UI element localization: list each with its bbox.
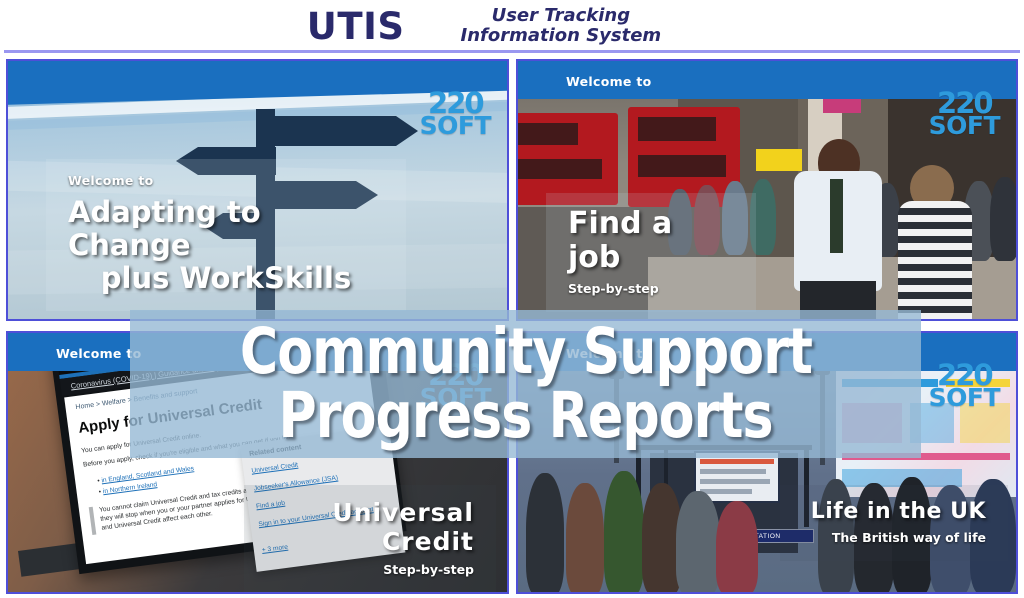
logo-bottom-text: SOFT: [929, 387, 1000, 408]
tile-title-line1: Adapting to Change: [68, 195, 261, 262]
app-subtitle: User Tracking Information System: [461, 6, 662, 46]
220soft-logo-icon: 220 SOFT: [420, 91, 491, 136]
pedestrian-icon: [566, 483, 604, 592]
tile-caption: Find a job Step-by-step: [546, 193, 756, 312]
tile-caption: Life in the UK The British way of life: [780, 485, 1008, 561]
220soft-logo-icon: 220 SOFT: [929, 91, 1000, 136]
tile-kicker: Welcome to: [68, 173, 384, 188]
double-decker-bus-icon: [518, 113, 618, 205]
tile-caption: Universal Credit Step-by-step: [244, 485, 496, 593]
logo-bottom-text: SOFT: [929, 115, 1000, 136]
tile-subtitle: The British way of life: [802, 530, 986, 545]
220soft-logo-icon: 220 SOFT: [929, 363, 1000, 408]
tile-caption: Welcome to Adapting to Change plus WorkS…: [46, 159, 406, 311]
tile-title: Adapting to Change plus WorkSkills: [68, 196, 384, 295]
pedestrian-icon: [676, 491, 720, 592]
person-tie-icon: [830, 179, 843, 253]
tile-subtitle: Step-by-step: [568, 281, 734, 296]
app-subtitle-line2: Information System: [461, 26, 662, 46]
overlay-line-1: Community Support: [239, 320, 811, 384]
tile-title: Find a job: [568, 207, 734, 275]
related-link[interactable]: Universal Credit: [251, 462, 298, 475]
logo-bottom-text: SOFT: [420, 115, 491, 136]
pedestrian-icon: [716, 501, 758, 592]
overlay-line-2: Progress Reports: [278, 384, 772, 448]
pedestrian-icon: [990, 177, 1016, 261]
shop-sign-icon: [756, 149, 802, 171]
app-subtitle-line1: User Tracking: [461, 6, 662, 26]
tile-find-a-job[interactable]: Welcome to 220 SOFT Find a job Step-by-s…: [516, 59, 1018, 321]
tile-kicker: Welcome to: [56, 346, 142, 361]
utis-app-window: UTIS User Tracking Information System: [0, 0, 1024, 598]
app-header: UTIS User Tracking Information System: [0, 0, 1024, 52]
striped-shirt-person-icon: [898, 201, 972, 319]
signpost-arm-icon: [266, 116, 396, 146]
pedestrian-icon: [604, 471, 644, 592]
tile-subtitle: Step-by-step: [266, 562, 474, 577]
shop-sign-icon: [823, 97, 861, 113]
tile-title: Life in the UK: [802, 499, 986, 524]
overlay-banner[interactable]: Community Support Progress Reports: [130, 310, 921, 458]
tile-adapting-to-change[interactable]: 220 SOFT Welcome to Adapting to Change p…: [6, 59, 509, 321]
page-title: UTIS: [307, 8, 405, 45]
bullet-link-2[interactable]: in Northern Ireland: [103, 481, 158, 495]
pedestrian-icon: [526, 473, 564, 592]
header-divider: [4, 50, 1020, 53]
tile-title-line2: plus WorkSkills: [68, 262, 384, 295]
tile-kicker: Welcome to: [566, 74, 652, 89]
tile-title: Universal Credit: [266, 499, 474, 556]
